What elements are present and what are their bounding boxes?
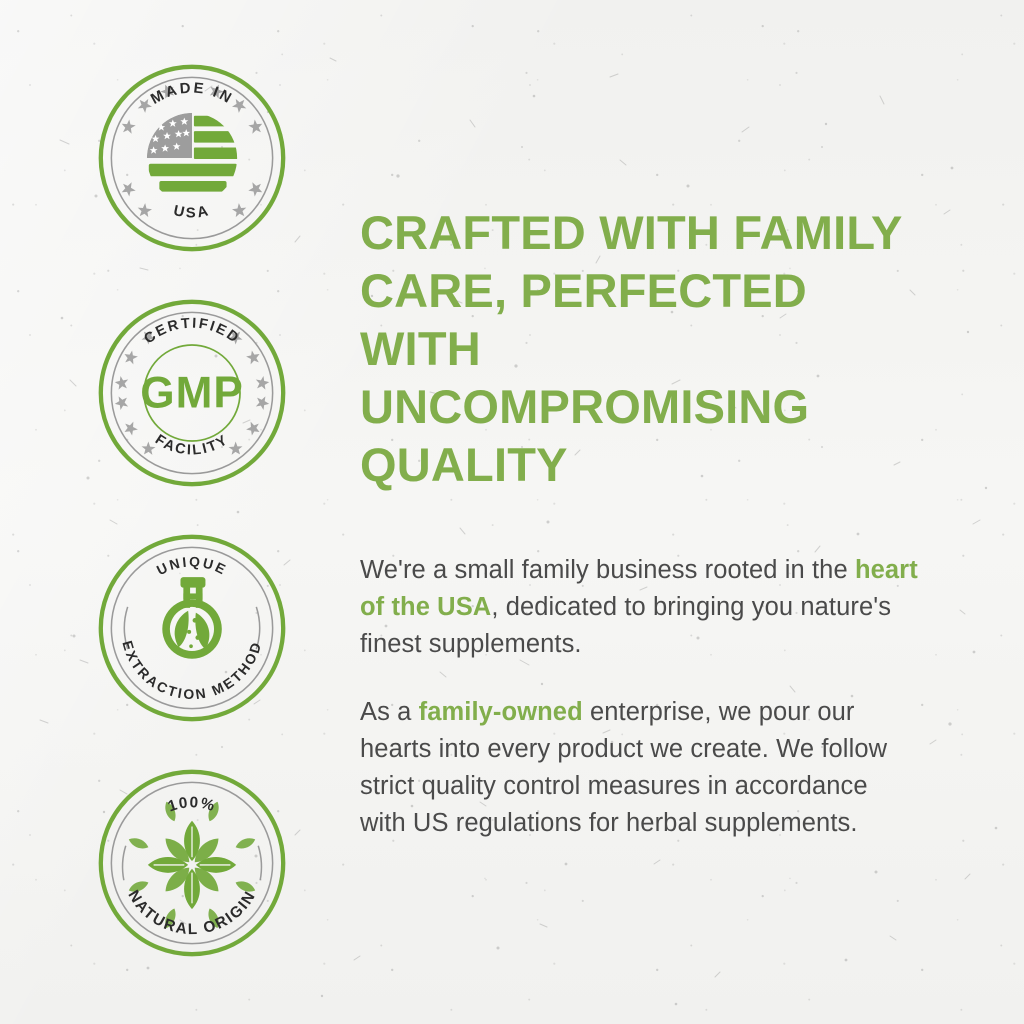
paragraph-2-text-before: As a [360,698,419,726]
headline-line-1: CRAFTED WITH FAMILY [360,206,903,259]
headline-line-3: UNCOMPROMISING [360,380,809,433]
paragraph-1-text-before: We're a small family business rooted in … [360,556,855,584]
badge-unique-extraction-method: UNIQUE EXTRACTION METHOD [96,532,288,724]
paragraph-2-highlight: family-owned [419,698,583,726]
decorative-arc [124,607,259,649]
text-column: CRAFTED WITH FAMILY CARE, PERFECTED WITH… [360,204,920,842]
usa-flag-circle-icon [147,113,238,192]
badge-made-in-usa: MADE IN USA [96,62,288,254]
flask-leaf-icon [162,577,222,659]
page-title: CRAFTED WITH FAMILY CARE, PERFECTED WITH… [360,204,920,494]
certification-badge-column: MADE IN USA [96,62,288,1002]
badge-gmp-bottom-label: FACILITY [152,432,232,459]
headline-line-2: CARE, PERFECTED WITH [360,264,807,375]
badge-made-in-usa-bottom-label: USA [172,203,212,222]
badge-extraction-top-label: UNIQUE [154,553,230,578]
body-paragraph-1: We're a small family business rooted in … [360,552,920,663]
body-paragraph-2: As a family-owned enterprise, we pour ou… [360,694,920,842]
badge-gmp-certified-facility: CERTIFIED FACILITY GMP [96,297,288,489]
badge-extraction-bottom-label: EXTRACTION METHOD [119,639,264,703]
badge-natural-origin-top-label: 100% [166,794,218,815]
badge-natural-origin: 100% NATURAL ORIGIN [96,767,288,959]
badge-made-in-usa-top-label: MADE IN [148,80,235,107]
headline-line-4: QUALITY [360,438,568,491]
infographic-page: MADE IN USA [0,0,1024,1024]
gmp-text-icon: GMP [140,369,243,418]
